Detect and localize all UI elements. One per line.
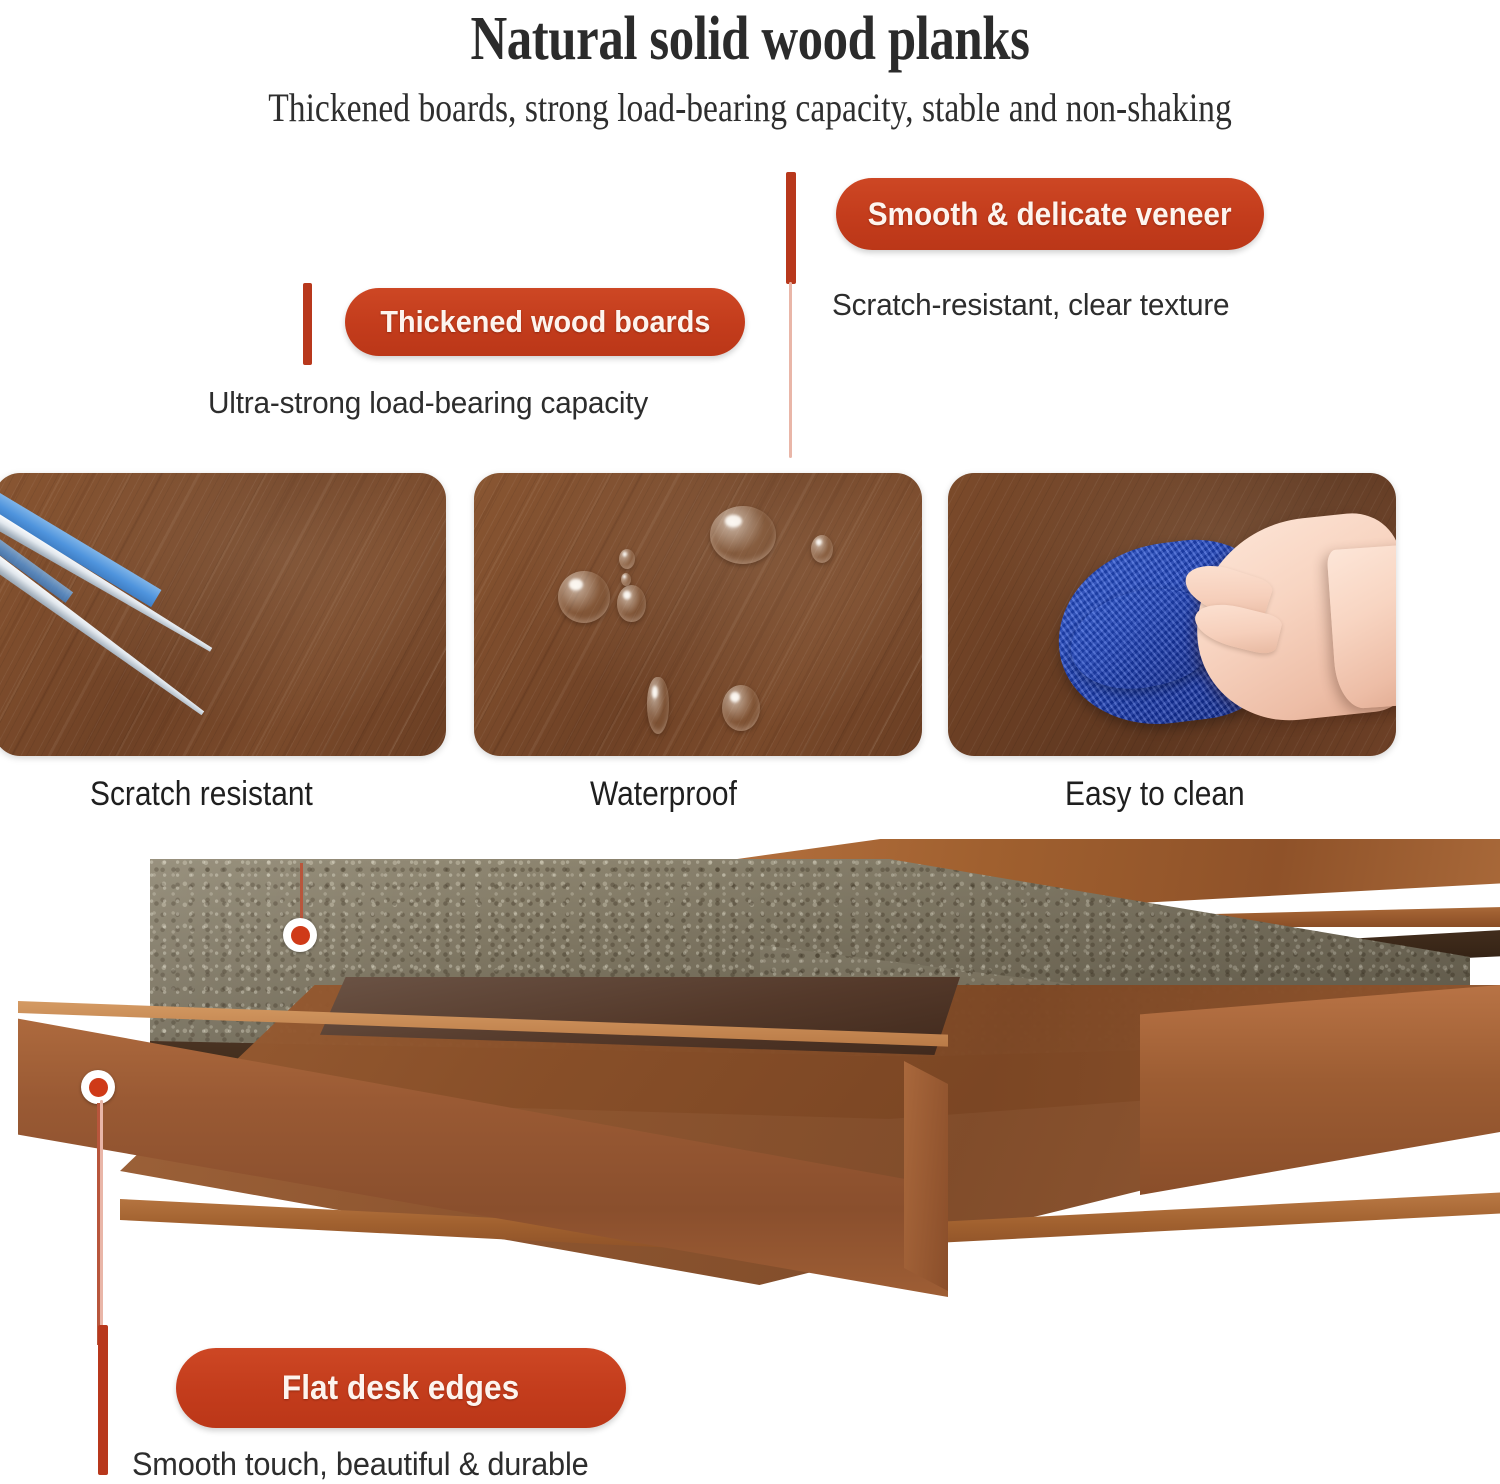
callout-description-smooth-delicate-veneer: Scratch-resistant, clear texture bbox=[832, 287, 1229, 323]
badge-thickened-wood-boards-label: Thickened wood boards bbox=[380, 304, 710, 340]
feature-image-waterproof bbox=[474, 473, 922, 756]
caption-scratch-resistant: Scratch resistant bbox=[90, 775, 313, 814]
badge-smooth-delicate-veneer[interactable]: Smooth & delicate veneer bbox=[836, 178, 1264, 250]
water-droplet bbox=[647, 677, 669, 734]
layer-edge-banding-right bbox=[1140, 985, 1500, 1195]
water-droplet bbox=[722, 685, 760, 731]
water-droplet bbox=[558, 571, 610, 623]
badge-smooth-delicate-veneer-label: Smooth & delicate veneer bbox=[868, 196, 1232, 233]
callout-tick-thickened-wood-boards bbox=[303, 283, 312, 365]
feature-panel-row bbox=[0, 473, 1500, 763]
water-droplet bbox=[619, 549, 635, 569]
marker-dot-particleboard-core[interactable] bbox=[283, 918, 317, 952]
desk-cross-section-illustration bbox=[0, 845, 1500, 1365]
feature-image-easy-to-clean bbox=[948, 473, 1396, 756]
water-droplet bbox=[617, 585, 646, 622]
callout-tick-flat-desk-edges bbox=[98, 1325, 108, 1475]
callout-leader-line-smooth-delicate-veneer bbox=[789, 282, 792, 458]
feature-image-scratch-resistant bbox=[0, 473, 446, 756]
badge-thickened-wood-boards[interactable]: Thickened wood boards bbox=[345, 288, 745, 356]
page-subtitle: Thickened boards, strong load-bearing ca… bbox=[120, 74, 1380, 132]
header: Natural solid wood planks Thickened boar… bbox=[0, 0, 1500, 132]
callout-leader-line-flat-desk-edges bbox=[100, 1100, 103, 1330]
page-title: Natural solid wood planks bbox=[135, 0, 1365, 74]
badge-flat-desk-edges-label: Flat desk edges bbox=[282, 1369, 519, 1408]
callout-description-thickened-wood-boards: Ultra-strong load-bearing capacity bbox=[208, 385, 648, 421]
water-droplet bbox=[811, 535, 833, 563]
callout-tick-smooth-delicate-veneer bbox=[786, 172, 796, 284]
surface-highlight bbox=[474, 473, 922, 756]
layer-edge-banding-end-cap bbox=[904, 1061, 948, 1291]
badge-flat-desk-edges[interactable]: Flat desk edges bbox=[176, 1348, 626, 1428]
tweezers-icon bbox=[0, 473, 284, 641]
water-droplet bbox=[710, 506, 776, 564]
callout-description-flat-desk-edges: Smooth touch, beautiful & durable bbox=[132, 1446, 588, 1483]
caption-waterproof: Waterproof bbox=[590, 775, 737, 814]
caption-easy-to-clean: Easy to clean bbox=[1065, 775, 1245, 814]
marker-dot-edge-banding[interactable] bbox=[81, 1070, 115, 1104]
